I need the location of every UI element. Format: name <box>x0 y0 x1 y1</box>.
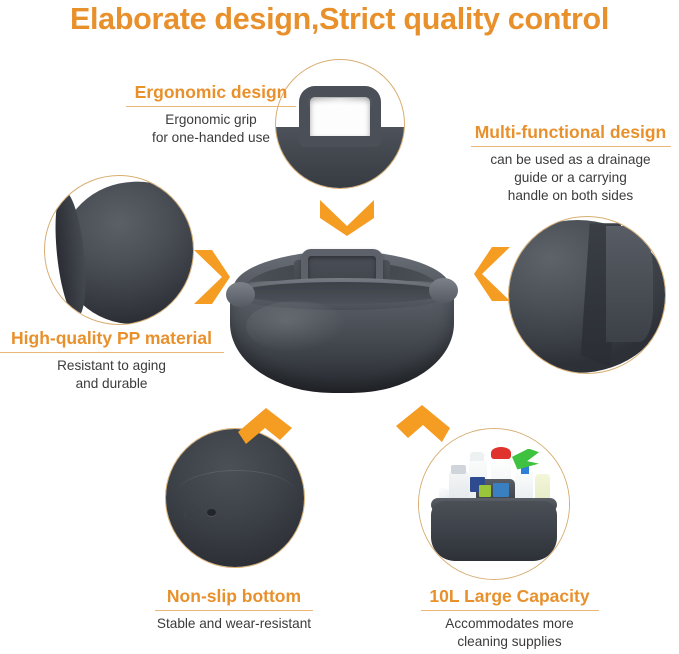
callout-high-quality-pp-material: High-quality PP material Resistant to ag… <box>0 328 229 393</box>
caddy-with-supplies-image <box>419 429 569 579</box>
callout-10l-large-capacity: 10L Large Capacity Accommodates more cle… <box>392 586 627 651</box>
callout-capacity-rule <box>421 610 599 611</box>
page-title: Elaborate design,Strict quality control <box>0 2 679 37</box>
callout-non-slip-bottom: Non-slip bottom Stable and wear-resistan… <box>120 586 348 633</box>
pp-material-image <box>45 176 193 324</box>
callout-material-heading: High-quality PP material <box>0 328 229 349</box>
caddy-side-handle-right <box>429 278 459 303</box>
callout-capacity-subtitle: Accommodates more cleaning supplies <box>392 615 627 651</box>
callout-multi-rule <box>471 146 671 147</box>
callout-ergonomic-rule <box>126 106 296 107</box>
callout-nonslip-subtitle: Stable and wear-resistant <box>120 615 348 633</box>
bottle-label-lightblue <box>493 483 510 497</box>
callout-multi-heading: Multi-functional design <box>462 122 679 143</box>
callout-material-subtitle: Resistant to aging and durable <box>0 357 229 393</box>
arrow-right-icon <box>190 246 234 308</box>
bottle-redcap-cap <box>491 447 511 459</box>
bottle-white-small-cap <box>451 465 466 474</box>
bottle-label-green <box>479 485 491 497</box>
callout-ergonomic-design: Ergonomic design Ergonomic grip for one-… <box>96 82 326 147</box>
side-handle-image <box>509 217 665 373</box>
side-handle-edge <box>606 226 653 341</box>
arrow-down-icon <box>316 196 378 238</box>
caddy-with-supplies-photo <box>418 428 570 580</box>
callout-multi-subtitle: can be used as a drainage guide or a car… <box>462 151 679 205</box>
arrow-up-right-icon <box>392 400 456 450</box>
caddy-body-highlight <box>246 301 346 351</box>
infographic-canvas: Elaborate design,Strict quality control <box>0 0 679 654</box>
arrow-left-icon <box>470 243 514 305</box>
callout-capacity-heading: 10L Large Capacity <box>392 586 627 607</box>
pp-material-closeup-photo <box>44 175 194 325</box>
bottle-pump-head <box>470 452 484 461</box>
callout-multi-functional-design: Multi-functional design can be used as a… <box>462 122 679 205</box>
cleaning-caddy-product-photo <box>228 248 456 396</box>
caddy-front-rim-inner <box>239 282 444 304</box>
arrow-up-left-icon <box>232 402 296 450</box>
callout-material-rule <box>0 352 224 353</box>
caddy-tub <box>431 501 557 561</box>
callout-nonslip-heading: Non-slip bottom <box>120 586 348 607</box>
callout-ergonomic-subtitle: Ergonomic grip for one-handed use <box>96 111 326 147</box>
callout-nonslip-rule <box>155 610 313 611</box>
bottom-mold-mark <box>184 505 200 518</box>
side-handle-closeup-photo <box>508 216 666 374</box>
callout-ergonomic-heading: Ergonomic design <box>96 82 326 103</box>
